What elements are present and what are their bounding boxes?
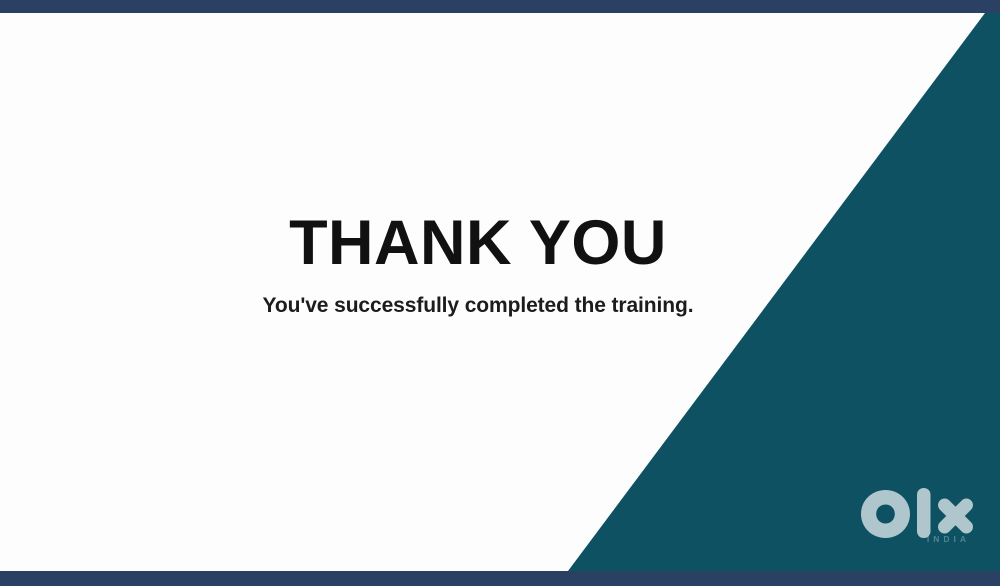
olx-india-sublabel: INDIA: [927, 534, 970, 544]
slide-canvas: THANK YOU You've successfully completed …: [0, 13, 1000, 571]
completion-subtitle: You've successfully completed the traini…: [0, 293, 956, 318]
slide-frame-bar-top: [0, 0, 1000, 13]
thank-you-slide: THANK YOU You've successfully completed …: [0, 0, 1000, 586]
page-title: THANK YOU: [0, 211, 956, 277]
slide-frame-bar-bottom: [0, 571, 1000, 586]
headline-block: THANK YOU You've successfully completed …: [0, 211, 956, 318]
